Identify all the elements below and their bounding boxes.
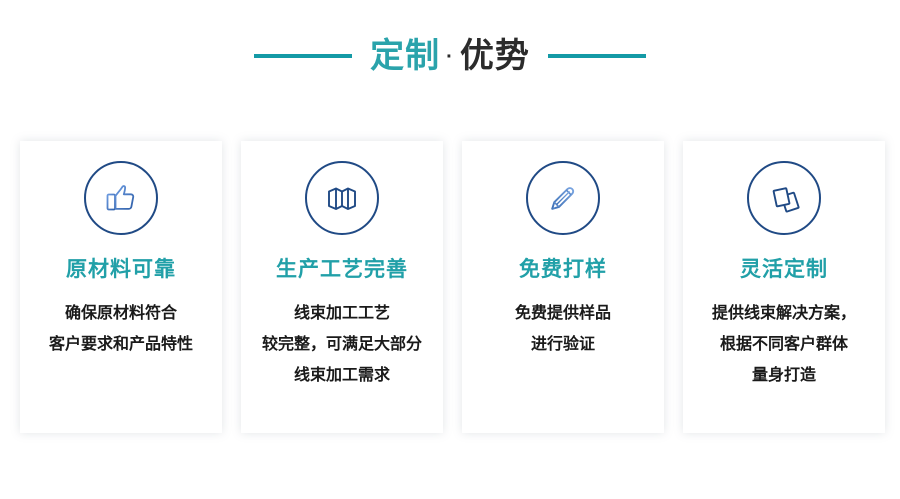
feature-card-body: 免费提供样品 进行验证 (470, 298, 656, 360)
feature-card-body-line: 量身打造 (691, 360, 877, 391)
section-title: 定制 · 优势 (0, 30, 900, 82)
feature-card-list: 原材料可靠 确保原材料符合 客户要求和产品特性 生产工艺完善 (20, 141, 885, 433)
icon-circle (747, 161, 821, 235)
feature-card-title: 灵活定制 (740, 259, 828, 280)
stacked-cards-icon (764, 178, 804, 218)
icon-circle (84, 161, 158, 235)
feature-card[interactable]: 灵活定制 提供线束解决方案， 根据不同客户群体 量身打造 (683, 141, 885, 433)
feature-card-body-line: 免费提供样品 (470, 298, 656, 329)
title-rule-left (254, 54, 352, 58)
page-title: 定制 · 优势 (370, 39, 530, 73)
feature-card-body: 提供线束解决方案， 根据不同客户群体 量身打造 (691, 298, 877, 391)
feature-card-body-line: 线束加工需求 (249, 360, 435, 391)
feature-card-body-line: 客户要求和产品特性 (28, 329, 214, 360)
title-separator-dot: · (440, 47, 460, 67)
pencil-icon (543, 178, 583, 218)
title-rule-right (548, 54, 646, 58)
feature-card-body-line: 根据不同客户群体 (691, 329, 877, 360)
feature-card-title: 原材料可靠 (66, 259, 176, 280)
advantages-section: 定制 · 优势 (0, 0, 900, 499)
feature-card[interactable]: 免费打样 免费提供样品 进行验证 (462, 141, 664, 433)
title-accent-text: 定制 (370, 39, 440, 73)
feature-card-title: 免费打样 (519, 259, 607, 280)
folded-map-icon (322, 178, 362, 218)
thumbs-up-icon (101, 178, 141, 218)
feature-card-body-line: 提供线束解决方案， (691, 298, 877, 329)
feature-card[interactable]: 原材料可靠 确保原材料符合 客户要求和产品特性 (20, 141, 222, 433)
feature-card-body-line: 确保原材料符合 (28, 298, 214, 329)
feature-card[interactable]: 生产工艺完善 线束加工工艺 较完整，可满足大部分 线束加工需求 (241, 141, 443, 433)
feature-card-body: 确保原材料符合 客户要求和产品特性 (28, 298, 214, 360)
icon-circle (305, 161, 379, 235)
feature-card-body-line: 较完整，可满足大部分 (249, 329, 435, 360)
feature-card-body-line: 进行验证 (470, 329, 656, 360)
feature-card-body: 线束加工工艺 较完整，可满足大部分 线束加工需求 (249, 298, 435, 391)
title-main-text: 优势 (460, 39, 530, 73)
icon-circle (526, 161, 600, 235)
feature-card-body-line: 线束加工工艺 (249, 298, 435, 329)
feature-card-title: 生产工艺完善 (276, 259, 408, 280)
